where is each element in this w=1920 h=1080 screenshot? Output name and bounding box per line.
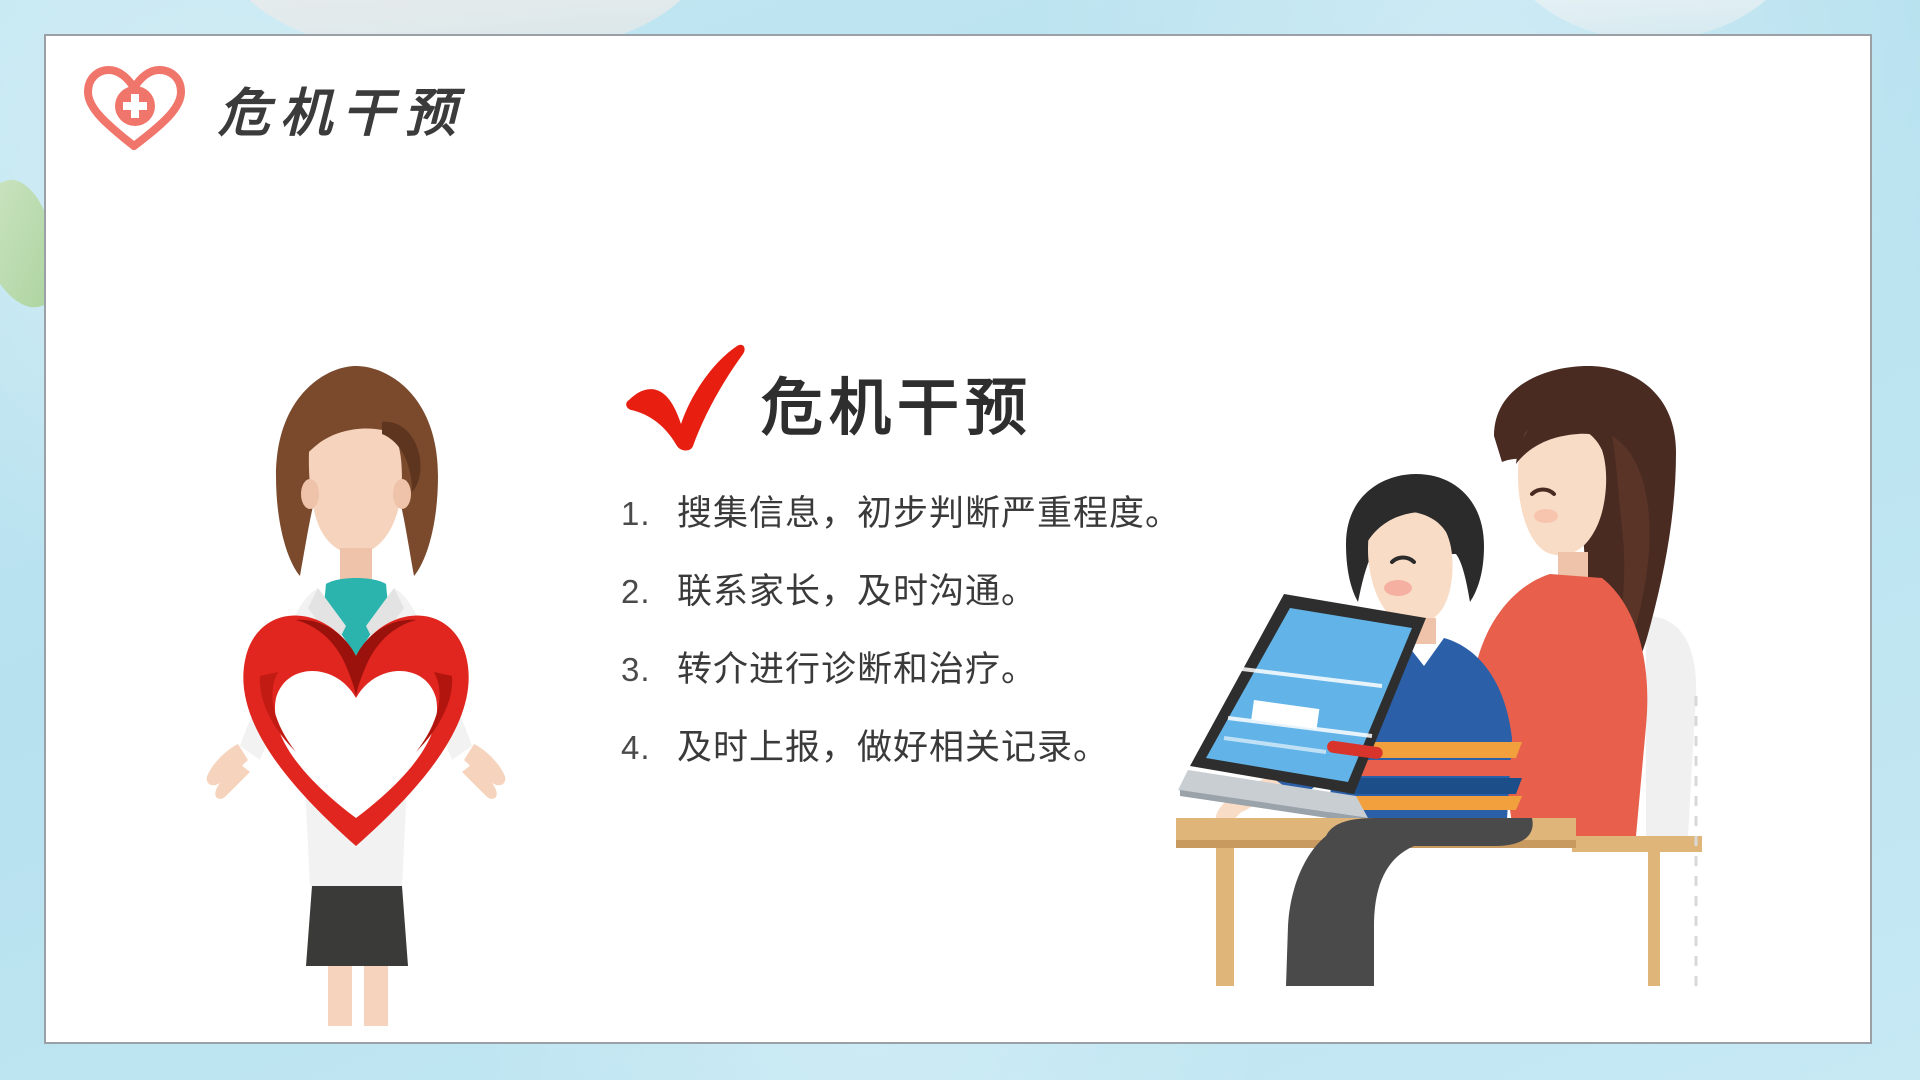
list-item-text: 搜集信息，初步判断严重程度。: [677, 496, 1181, 531]
list-item-number: 1.: [621, 497, 677, 530]
female-doctor-illustration: [176, 326, 536, 1026]
mother-and-child-illustration: [1176, 366, 1856, 986]
section-heading-text: 危机干预: [761, 378, 1033, 446]
red-check-icon: [621, 342, 751, 446]
list-item-text: 联系家长，及时沟通。: [677, 574, 1037, 609]
slide-root: 危机干预: [0, 0, 1920, 1080]
page-title: 危机干预: [218, 71, 466, 146]
list-item-text: 转介进行诊断和治疗。: [677, 652, 1037, 687]
slide-card: 危机干预: [44, 34, 1872, 1044]
slide-header: 危机干预: [76, 62, 466, 154]
heart-medical-cross-icon: [76, 62, 194, 154]
list-item-number: 4.: [621, 731, 677, 764]
list-item-number: 2.: [621, 575, 677, 608]
list-item-number: 3.: [621, 653, 677, 686]
list-item-text: 及时上报，做好相关记录。: [677, 730, 1109, 765]
